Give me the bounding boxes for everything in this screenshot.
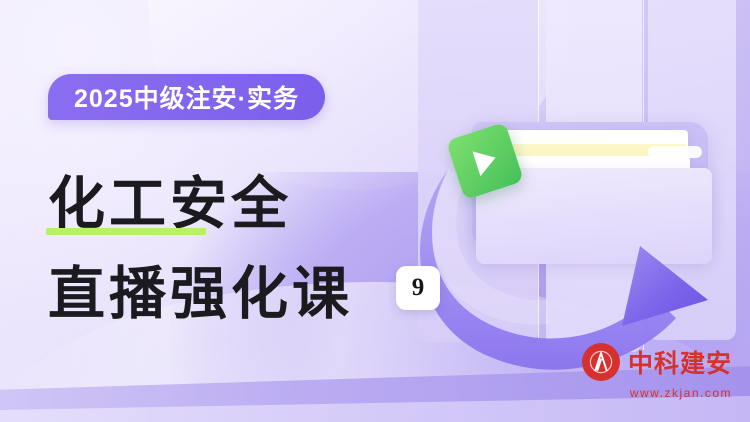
brand-logo-row: 中科建安 bbox=[582, 343, 732, 381]
episode-badge: 9 bbox=[396, 266, 440, 310]
brand-logo: 中科建安 www.zkjan.com bbox=[582, 343, 732, 400]
play-triangle-icon bbox=[472, 145, 499, 176]
course-category-label: 2025中级注安·实务 bbox=[74, 79, 299, 115]
headline-line-2: 直播强化课 bbox=[48, 248, 353, 330]
episode-number: 9 bbox=[412, 274, 425, 302]
brand-mark-icon bbox=[582, 343, 620, 381]
brand-url: www.zkjan.com bbox=[630, 386, 732, 400]
headline-underline bbox=[46, 228, 206, 235]
brand-name: 中科建安 bbox=[628, 344, 732, 380]
course-category-badge: 2025中级注安·实务 bbox=[48, 74, 325, 120]
promo-poster: 2025中级注安·实务 化工安全 直播强化课 9 中科建安 www.zkjan.… bbox=[0, 0, 750, 422]
